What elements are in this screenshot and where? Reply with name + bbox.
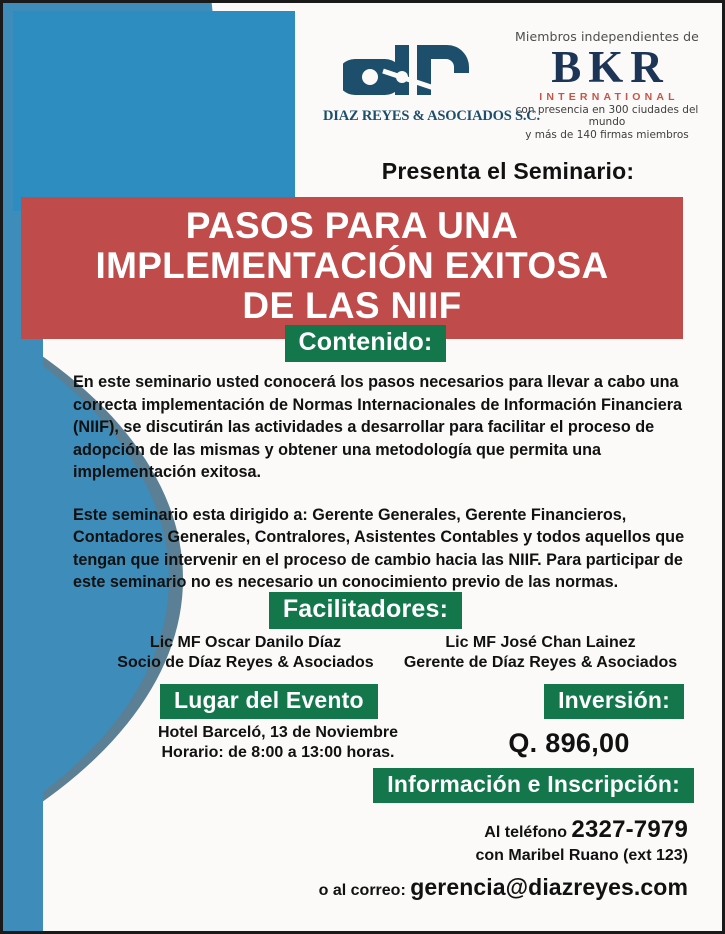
email-row: o al correo: gerencia@diazreyes.com [268, 870, 688, 908]
contact-details: Al teléfono 2327-7979 con Maribel Ruano … [268, 818, 688, 908]
contenido-paragraph-1: En este seminario usted conocerá los pas… [73, 371, 693, 484]
bkr-international: INTERNATIONAL [511, 91, 707, 103]
facilitadores-list: Lic MF Oscar Danilo Díaz Socio de Díaz R… [98, 633, 688, 673]
contenido-heading: Contenido: [285, 325, 447, 362]
phone-number[interactable]: 2327-7979 [571, 816, 688, 843]
facilitator-name: Lic MF José Chan Lainez [393, 633, 688, 653]
company-logo: DIAZ REYES & ASOCIADOS S.C. [323, 35, 513, 125]
phone-label: Al teléfono [484, 824, 567, 841]
informacion-heading: Información e Inscripción: [373, 768, 694, 803]
email-label: o al correo: [319, 882, 406, 899]
lugar-heading-wrap: Lugar del Evento [160, 684, 378, 719]
phone-row: Al teléfono 2327-7979 [268, 818, 688, 845]
contact-person: con Maribel Ruano (ext 123) [268, 845, 688, 866]
header-logos: DIAZ REYES & ASOCIADOS S.C. Miembros ind… [303, 29, 713, 159]
presenta-heading: Presenta el Seminario: [303, 158, 713, 185]
lugar-details: Hotel Barceló, 13 de Noviembre Horario: … [133, 723, 423, 763]
dra-monogram-icon [343, 35, 493, 107]
title-line-3: DE LAS NIIF [21, 286, 683, 326]
company-name: DIAZ REYES & ASOCIADOS S.C. [323, 108, 513, 125]
lugar-schedule: Horario: de 8:00 a 13:00 horas. [133, 743, 423, 763]
inversion-heading: Inversión: [544, 684, 684, 719]
facilitator-name: Lic MF Oscar Danilo Díaz [98, 633, 393, 653]
bkr-wordmark: BKR [514, 44, 707, 90]
title-line-2: IMPLEMENTACIÓN EXITOSA [21, 246, 683, 286]
bkr-tagline-line1: con presencia en 300 ciudades del mundo [507, 104, 707, 128]
email-address[interactable]: gerencia@diazreyes.com [410, 874, 688, 900]
informacion-heading-wrap: Información e Inscripción: [373, 768, 694, 803]
contenido-paragraph-2: Este seminario esta dirigido a: Gerente … [73, 504, 693, 594]
facilitator-role: Socio de Díaz Reyes & Asociados [98, 653, 393, 673]
seminar-flyer: DIAZ REYES & ASOCIADOS S.C. Miembros ind… [0, 0, 725, 934]
title-banner: PASOS PARA UNA IMPLEMENTACIÓN EXITOSA DE… [21, 197, 683, 339]
title-line-1: PASOS PARA UNA [21, 206, 683, 246]
inversion-heading-wrap: Inversión: [544, 684, 684, 719]
facilitator-role: Gerente de Díaz Reyes & Asociados [393, 653, 688, 673]
lugar-heading: Lugar del Evento [160, 684, 378, 719]
contenido-body: En este seminario usted conocerá los pas… [73, 371, 693, 594]
facilitadores-heading: Facilitadores: [269, 592, 462, 629]
inversion-amount: Q. 896,00 [454, 728, 684, 759]
facilitator-item: Lic MF Oscar Danilo Díaz Socio de Díaz R… [98, 633, 393, 673]
team-photo [13, 11, 295, 211]
contenido-heading-wrap: Contenido: [3, 325, 725, 362]
bkr-tagline-line2: y más de 140 firmas miembros [507, 129, 707, 141]
facilitadores-heading-wrap: Facilitadores: [3, 592, 725, 629]
lugar-venue: Hotel Barceló, 13 de Noviembre [133, 723, 423, 743]
bkr-logo: Miembros independientes de BKR INTERNATI… [507, 29, 707, 141]
facilitator-item: Lic MF José Chan Lainez Gerente de Díaz … [393, 633, 688, 673]
